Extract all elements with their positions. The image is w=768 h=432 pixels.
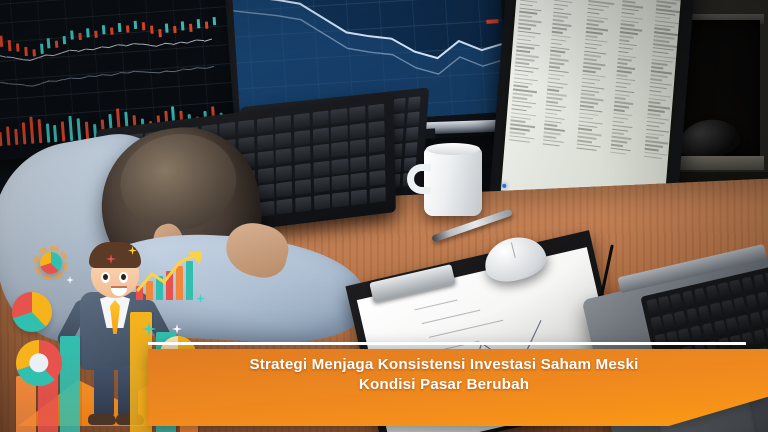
mouse-seam <box>511 242 516 258</box>
data-row <box>586 31 603 35</box>
data-row <box>618 55 636 59</box>
data-row <box>545 120 562 124</box>
trend-line <box>111 72 119 75</box>
data-row <box>577 136 596 140</box>
data-row <box>645 144 663 148</box>
candlestick <box>118 23 122 32</box>
data-row <box>543 135 556 138</box>
price-marker <box>486 19 498 24</box>
data-row <box>613 117 628 120</box>
data-row <box>614 105 629 108</box>
monitor-right-screen <box>501 0 683 211</box>
data-row <box>546 97 562 100</box>
data-row <box>517 34 535 38</box>
eye-left-icon <box>101 272 110 283</box>
data-row <box>551 38 566 41</box>
eye-right-icon <box>119 272 128 283</box>
candlestick <box>181 21 185 30</box>
data-row <box>646 136 659 139</box>
mascot-mini-bar-chart <box>136 254 202 300</box>
data-row <box>518 27 531 30</box>
candlestick <box>174 26 178 33</box>
data-row <box>553 11 571 15</box>
data-row <box>519 11 537 15</box>
data-row <box>554 0 572 3</box>
trend-line <box>95 74 103 77</box>
trend-line <box>141 44 149 46</box>
trend-line <box>125 43 133 47</box>
data-row <box>614 109 625 112</box>
candlestick <box>40 44 44 54</box>
mascot-bar-2 <box>60 336 80 432</box>
title-banner: Strategi Menjaga Konsistensi Investasi S… <box>148 342 768 426</box>
data-row <box>581 89 599 93</box>
data-row <box>552 27 567 30</box>
data-row <box>652 51 668 54</box>
data-column <box>606 0 647 206</box>
data-row <box>649 90 661 93</box>
data-row <box>515 58 534 62</box>
data-column <box>640 0 683 211</box>
gridline <box>0 25 229 45</box>
data-row <box>655 16 670 19</box>
candlestick <box>158 29 162 37</box>
banner-accent-line <box>148 342 746 345</box>
data-row <box>584 54 601 58</box>
candlestick <box>47 38 51 48</box>
data-row <box>546 101 558 104</box>
data-row <box>650 78 662 81</box>
candlestick <box>79 33 83 40</box>
hair <box>114 127 242 238</box>
smiling-mouth-icon <box>111 286 127 296</box>
data-row <box>520 3 533 6</box>
data-row <box>550 46 569 50</box>
data-row <box>577 140 592 143</box>
data-row <box>514 81 533 85</box>
data-row <box>649 97 666 101</box>
data-row <box>511 108 526 111</box>
data-row <box>545 112 557 115</box>
data-row <box>582 81 595 84</box>
candlestick <box>110 28 114 35</box>
data-row <box>651 74 668 78</box>
data-row <box>644 156 662 160</box>
candlestick <box>86 28 90 37</box>
paper-line <box>414 300 457 311</box>
shoe-left <box>88 414 116 425</box>
volume-bar <box>6 127 10 146</box>
data-row <box>585 43 602 47</box>
data-row <box>622 0 635 3</box>
trend-line <box>149 45 157 47</box>
candlestick <box>150 26 154 34</box>
data-row <box>549 66 560 69</box>
data-row <box>583 70 596 73</box>
mug-handle <box>407 164 431 194</box>
data-row <box>648 101 661 104</box>
data-row <box>615 93 630 96</box>
candlestick <box>189 24 193 32</box>
data-row <box>619 39 629 42</box>
data-row <box>587 19 604 23</box>
data-row <box>519 15 532 18</box>
data-row <box>578 128 592 131</box>
data-row <box>579 112 598 116</box>
volume-bar <box>21 123 26 145</box>
candlestick <box>197 19 201 28</box>
data-row <box>553 19 564 22</box>
data-row <box>646 132 664 136</box>
mascot-donut-chart <box>16 340 62 386</box>
data-row <box>546 108 562 111</box>
data-row <box>549 62 564 65</box>
data-row <box>551 35 570 39</box>
candlestick <box>205 22 209 29</box>
data-row <box>612 128 628 131</box>
data-row <box>615 89 634 93</box>
data-row <box>544 132 561 136</box>
data-column <box>539 0 580 198</box>
mascot-pie-chart-3 <box>40 252 62 274</box>
data-row <box>585 47 598 50</box>
trend-line <box>25 85 33 87</box>
data-row <box>611 140 627 143</box>
data-row <box>650 86 667 90</box>
data-row <box>547 85 563 88</box>
data-row <box>582 78 600 82</box>
data-row <box>656 4 671 7</box>
data-row <box>509 139 530 143</box>
data-row <box>581 93 595 96</box>
coffee-mug <box>424 148 482 216</box>
data-row <box>518 23 536 27</box>
data-row <box>552 31 563 34</box>
data-row <box>550 54 561 57</box>
data-row <box>512 96 527 99</box>
data-row <box>618 51 628 54</box>
data-row <box>551 42 562 45</box>
candlestick <box>141 23 145 30</box>
data-row <box>654 28 670 31</box>
data-row <box>544 124 557 127</box>
candlestick <box>126 25 130 32</box>
volume-bar <box>14 129 18 145</box>
candlestick <box>16 43 20 51</box>
data-row <box>619 47 633 50</box>
page-title-line-2: Kondisi Pasar Berubah <box>359 376 529 393</box>
trend-line <box>127 71 135 74</box>
data-row <box>617 70 632 73</box>
data-row <box>616 74 627 77</box>
data-row <box>616 78 635 82</box>
data-row <box>648 109 665 113</box>
data-row <box>515 69 534 73</box>
candlestick <box>102 25 106 34</box>
data-row <box>543 143 560 147</box>
mug-rim <box>426 143 480 155</box>
data-row <box>554 4 568 7</box>
data-row <box>547 89 559 92</box>
data-row <box>652 63 668 66</box>
mascot-pie-chart-1 <box>12 292 52 332</box>
candlestick <box>24 47 28 56</box>
data-row <box>580 101 598 105</box>
gridline <box>0 6 228 26</box>
trend-line <box>17 84 25 86</box>
candlestick <box>213 17 217 26</box>
trend-line <box>9 84 17 86</box>
candlestick <box>32 49 36 56</box>
trend-line <box>143 71 151 73</box>
data-row <box>586 35 598 38</box>
candlestick <box>55 40 59 47</box>
page-title: Strategi Menjaga Konsistensi Investasi S… <box>182 355 706 395</box>
monitor-right-frame <box>498 0 686 214</box>
trend-line <box>206 66 214 69</box>
gridline <box>0 0 226 7</box>
data-row <box>548 77 560 80</box>
data-row <box>510 120 525 123</box>
volume-bar <box>0 132 2 146</box>
data-row <box>513 85 528 88</box>
trend-line <box>33 83 41 87</box>
volume-bar <box>29 116 34 143</box>
data-row <box>617 66 635 70</box>
trend-line <box>151 72 159 74</box>
gridline-v <box>144 0 156 141</box>
thumbnail-canvas: Strategi Menjaga Konsistensi Investasi S… <box>0 0 768 432</box>
data-row <box>510 131 526 134</box>
page-title-line-1: Strategi Menjaga Konsistensi Investasi S… <box>249 356 638 373</box>
data-row <box>618 58 632 61</box>
data-row <box>619 43 637 47</box>
data-row <box>588 8 604 11</box>
data-row <box>576 147 595 151</box>
data-row <box>616 86 627 89</box>
data-row <box>615 97 626 100</box>
trend-line <box>109 45 117 49</box>
mascot-hair <box>89 242 141 268</box>
data-row <box>554 7 564 10</box>
candlestick <box>70 31 74 40</box>
data-row <box>622 8 639 12</box>
data-row <box>647 113 660 116</box>
growth-arrow-icon <box>136 250 206 296</box>
data-row <box>621 20 639 24</box>
data-row <box>553 15 568 18</box>
data-row <box>653 39 669 42</box>
data-row <box>651 66 663 69</box>
data-row <box>552 23 571 27</box>
data-row <box>580 105 594 108</box>
data-row <box>645 148 659 151</box>
candlestick <box>165 24 169 33</box>
data-row <box>584 58 597 61</box>
data-row <box>617 62 627 65</box>
data-row <box>611 144 623 147</box>
candlestick <box>63 36 67 45</box>
candlestick <box>0 35 3 46</box>
data-row <box>586 23 598 26</box>
trend-line <box>23 59 31 61</box>
data-row <box>616 82 631 85</box>
data-row <box>517 38 531 41</box>
data-row <box>647 121 665 125</box>
data-row <box>515 61 529 64</box>
data-row <box>520 0 537 3</box>
data-row <box>647 125 660 128</box>
data-row <box>620 35 634 38</box>
trend-line <box>135 71 143 73</box>
data-row <box>516 46 534 50</box>
data-row <box>578 124 597 128</box>
data-row <box>612 132 624 135</box>
candlestick <box>94 30 98 37</box>
data-row <box>620 31 638 35</box>
data-row <box>614 101 633 105</box>
data-row <box>621 24 635 27</box>
candlestick <box>133 20 137 29</box>
data-row <box>583 66 601 70</box>
data-row <box>587 12 599 15</box>
data-row <box>550 50 565 53</box>
data-row <box>516 50 530 53</box>
trend-line <box>133 43 141 45</box>
trend-line <box>1 82 9 85</box>
leg-left <box>94 366 114 418</box>
data-row <box>514 73 528 76</box>
trend-line <box>204 38 212 42</box>
data-row <box>613 120 624 123</box>
data-row <box>621 12 634 15</box>
data-row <box>579 116 593 119</box>
data-row <box>610 151 626 154</box>
data-row <box>548 73 564 76</box>
